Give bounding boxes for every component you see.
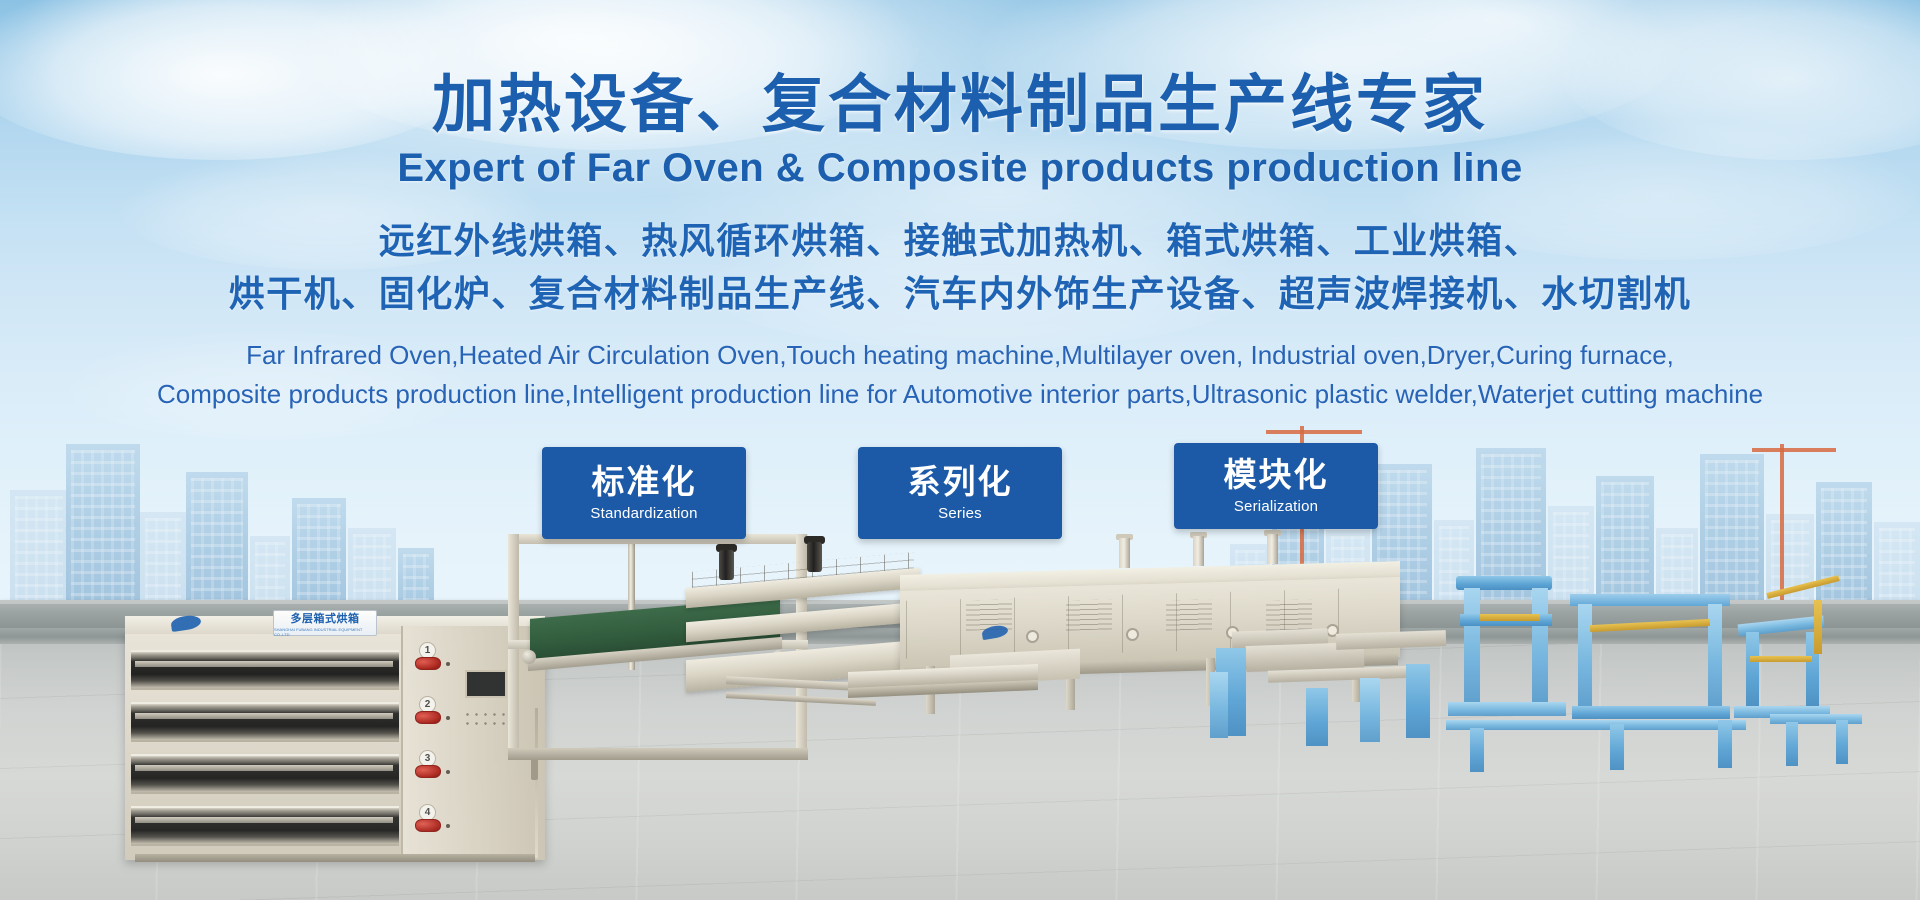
badge-label-zh: 系列化 <box>908 464 1013 500</box>
badge-serialization[interactable]: 模块化 Serialization <box>1174 443 1378 529</box>
badge-standardization[interactable]: 标准化 Standardization <box>542 447 746 539</box>
oven-nameplate-subtitle: SHANGHAI FUBANG INDUSTRIAL EQUIPMENT CO.… <box>274 627 376 637</box>
badge-label-en: Standardization <box>590 505 697 522</box>
indicator-lamp-4: 4 <box>411 804 455 840</box>
banner-text-block: 加热设备、复合材料制品生产线专家 Expert of Far Oven & Co… <box>0 0 1920 415</box>
product-list-en-line-1: Far Infrared Oven,Heated Air Circulation… <box>0 336 1920 376</box>
product-list-zh-line-2: 烘干机、固化炉、复合材料制品生产线、汽车内外饰生产设备、超声波焊接机、水切割机 <box>0 268 1920 321</box>
page-title: 加热设备、复合材料制品生产线专家 <box>0 72 1920 138</box>
indicator-lamp-2: 2 <box>411 696 455 732</box>
oven-nameplate-title: 多层箱式烘箱 <box>291 610 360 626</box>
oven-nameplate: 多层箱式烘箱 SHANGHAI FUBANG INDUSTRIAL EQUIPM… <box>273 610 377 636</box>
oven-layers <box>131 650 399 852</box>
indicator-lamp-1: 1 <box>411 642 455 678</box>
company-logo-icon <box>978 623 1018 640</box>
company-logo-icon <box>165 614 211 634</box>
product-list-zh: 远红外线烘箱、热风循环烘箱、接触式加热机、箱式烘箱、工业烘箱、 烘干机、固化炉、… <box>0 215 1920 322</box>
badge-series[interactable]: 系列化 Series <box>858 447 1062 539</box>
badge-label-zh: 模块化 <box>1224 457 1329 493</box>
page-subtitle: Expert of Far Oven & Composite products … <box>0 146 1920 191</box>
feature-badge-row: 标准化 Standardization 系列化 Series 模块化 Seria… <box>0 447 1920 539</box>
badge-label-en: Series <box>938 505 982 522</box>
indicator-lamp-3: 3 <box>411 750 455 786</box>
product-list-zh-line-1: 远红外线烘箱、热风循环烘箱、接触式加热机、箱式烘箱、工业烘箱、 <box>0 215 1920 268</box>
indicator-lamp-column: 1 2 3 4 <box>411 642 457 854</box>
product-list-en-line-2: Composite products production line,Intel… <box>0 375 1920 415</box>
banner-stage: 多层箱式烘箱 SHANGHAI FUBANG INDUSTRIAL EQUIPM… <box>0 0 1920 900</box>
badge-label-en: Serialization <box>1234 498 1318 515</box>
waterjet-robot-cell <box>1210 560 1910 790</box>
badge-label-zh: 标准化 <box>592 464 697 500</box>
multilayer-box-oven: 多层箱式烘箱 SHANGHAI FUBANG INDUSTRIAL EQUIPM… <box>125 612 545 860</box>
product-list-en: Far Infrared Oven,Heated Air Circulation… <box>0 336 1920 415</box>
